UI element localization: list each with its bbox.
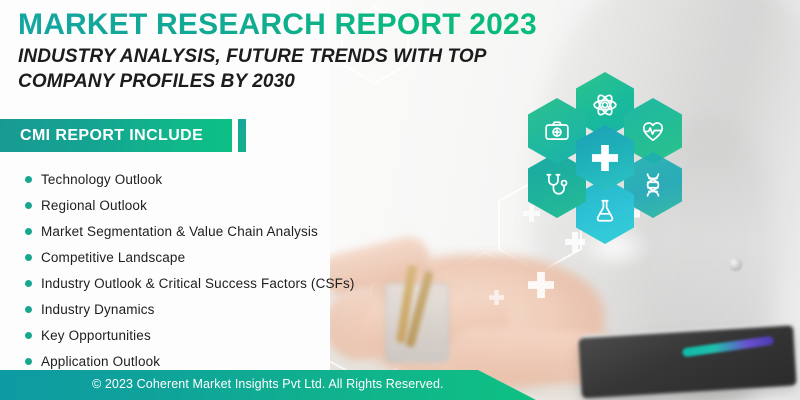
list-item: Market Segmentation & Value Chain Analys…: [25, 218, 445, 244]
list-item-label: Regional Outlook: [41, 198, 147, 213]
market-research-banner: MARKET RESEARCH REPORT 2023 INDUSTRY ANA…: [0, 0, 800, 400]
bullet-dot-icon: [25, 254, 32, 261]
footer-bar: © 2023 Coherent Market Insights Pvt Ltd.…: [0, 370, 540, 400]
bullet-dot-icon: [25, 306, 32, 313]
list-item-label: Application Outlook: [41, 354, 160, 369]
list-item: Competitive Landscape: [25, 244, 445, 270]
list-item-label: Competitive Landscape: [41, 250, 185, 265]
coat-button: [729, 258, 742, 271]
copyright-text: © 2023 Coherent Market Insights Pvt Ltd.…: [92, 377, 444, 391]
page-title: MARKET RESEARCH REPORT 2023: [18, 8, 537, 42]
list-item-label: Key Opportunities: [41, 328, 151, 343]
atom-icon: [592, 92, 618, 118]
hexagon-icon-cluster: [528, 72, 688, 242]
list-item: Industry Dynamics: [25, 296, 445, 322]
list-item-label: Technology Outlook: [41, 172, 162, 187]
dna-icon: [640, 172, 666, 198]
stethoscope-icon: [544, 172, 570, 198]
heartbeat-icon: [640, 118, 666, 144]
bullet-dot-icon: [25, 280, 32, 287]
flask-icon: [592, 198, 618, 224]
cmi-report-include-banner: CMI REPORT INCLUDE: [0, 119, 232, 152]
page-subtitle: INDUSTRY ANALYSIS, FUTURE TRENDS WITH TO…: [18, 44, 518, 94]
list-item-label: Market Segmentation & Value Chain Analys…: [41, 224, 318, 239]
banner-accent-tab: [238, 119, 246, 152]
bullet-dot-icon: [25, 202, 32, 209]
list-item: Regional Outlook: [25, 192, 445, 218]
bullet-dot-icon: [25, 358, 32, 365]
cmi-report-include-label: CMI REPORT INCLUDE: [20, 127, 203, 145]
bullet-dot-icon: [25, 332, 32, 339]
list-item-label: Industry Outlook & Critical Success Fact…: [41, 276, 355, 291]
list-item: Technology Outlook: [25, 166, 445, 192]
medical-cross-icon: [588, 141, 622, 175]
list-item-label: Industry Dynamics: [41, 302, 155, 317]
bullet-dot-icon: [25, 176, 32, 183]
list-item: Industry Outlook & Critical Success Fact…: [25, 270, 445, 296]
xray-camera-icon: [544, 118, 570, 144]
list-item: Key Opportunities: [25, 322, 445, 348]
bullet-dot-icon: [25, 228, 32, 235]
report-contents-list: Technology Outlook Regional Outlook Mark…: [25, 166, 445, 374]
